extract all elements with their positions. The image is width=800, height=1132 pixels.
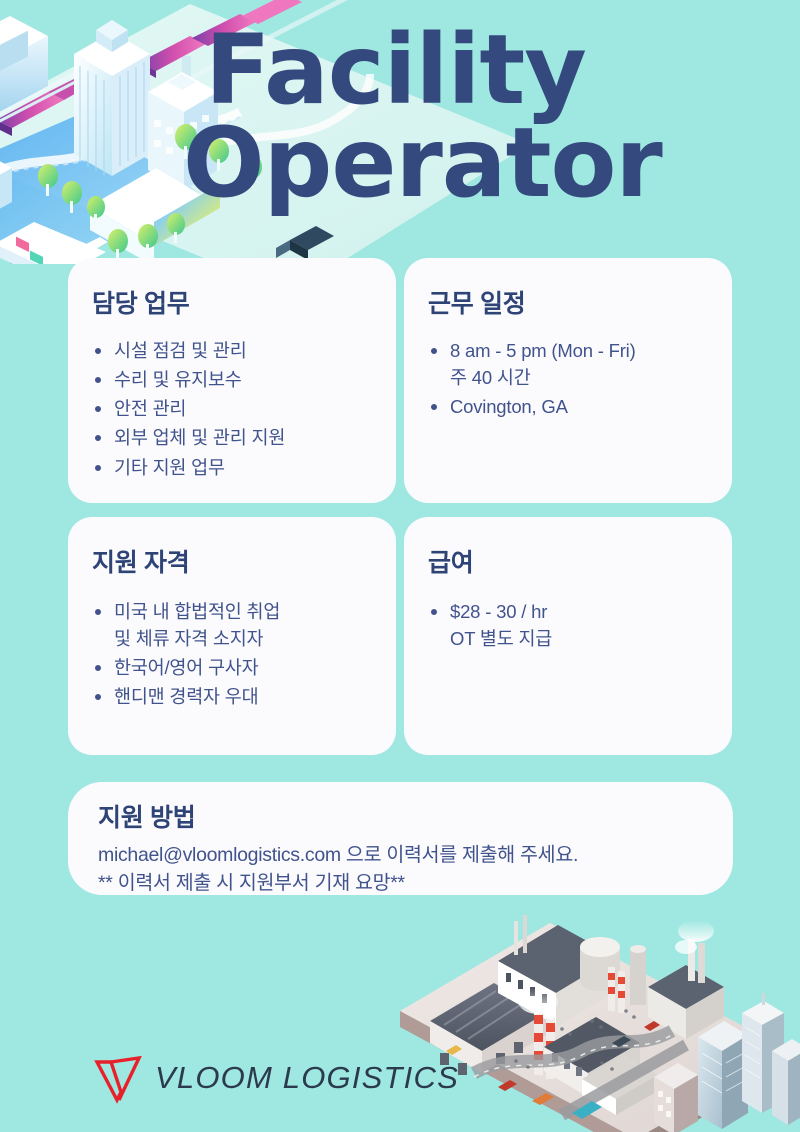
card-qualifications: 지원 자격 미국 내 합법적인 취업 및 체류 자격 소지자 한국어/영어 구사… — [68, 517, 396, 755]
list-item: 외부 업체 및 관리 지원 — [92, 425, 372, 452]
card-schedule-list: 8 am - 5 pm (Mon - Fri) 주 40 시간 Covingto… — [428, 338, 708, 420]
list-item-subtext: 및 체류 자격 소지자 — [114, 626, 372, 653]
company-logo: VLOOM LOGISTICS — [93, 1052, 459, 1104]
list-item: 8 am - 5 pm (Mon - Fri) 주 40 시간 — [428, 338, 708, 391]
vloom-v-mark-icon — [93, 1052, 145, 1104]
list-item-text: 외부 업체 및 관리 지원 — [114, 427, 285, 448]
list-item: 기타 지원 업무 — [92, 455, 372, 482]
list-item-subtext: 주 40 시간 — [450, 365, 708, 392]
list-item-text: Covington, GA — [450, 396, 568, 417]
title-line-2: Operator — [183, 117, 785, 210]
page-title: Facility Operator — [205, 24, 785, 210]
list-item-text: 시설 점검 및 관리 — [114, 340, 247, 361]
info-card-grid: 담당 업무 시설 점검 및 관리 수리 및 유지보수 안전 관리 외부 업체 및… — [68, 258, 733, 755]
list-item-text: 기타 지원 업무 — [114, 457, 225, 478]
list-item-text: $28 - 30 / hr — [450, 601, 547, 622]
apply-heading: 지원 방법 — [98, 798, 703, 834]
list-item: 안전 관리 — [92, 396, 372, 423]
list-item: Covington, GA — [428, 394, 708, 421]
list-item-text: 핸디맨 경력자 우대 — [114, 686, 258, 707]
list-item-text: 한국어/영어 구사자 — [114, 657, 258, 678]
list-item: 수리 및 유지보수 — [92, 367, 372, 394]
card-row-2: 지원 자격 미국 내 합법적인 취업 및 체류 자격 소지자 한국어/영어 구사… — [68, 517, 733, 755]
list-item-text: 안전 관리 — [114, 398, 186, 419]
card-duties: 담당 업무 시설 점검 및 관리 수리 및 유지보수 안전 관리 외부 업체 및… — [68, 258, 396, 503]
card-how-to-apply: 지원 방법 michael@vloomlogistics.com 으로 이력서를… — [68, 782, 733, 895]
list-item-text: 수리 및 유지보수 — [114, 369, 242, 390]
card-salary-list: $28 - 30 / hr OT 별도 지급 — [428, 599, 708, 652]
card-duties-list: 시설 점검 및 관리 수리 및 유지보수 안전 관리 외부 업체 및 관리 지원… — [92, 338, 372, 481]
list-item-subtext: OT 별도 지급 — [450, 626, 708, 653]
apply-line-2: ** 이력서 제출 시 지원부서 기재 요망** — [98, 870, 703, 898]
card-qualifications-list: 미국 내 합법적인 취업 및 체류 자격 소지자 한국어/영어 구사자 핸디맨 … — [92, 599, 372, 711]
list-item: 미국 내 합법적인 취업 및 체류 자격 소지자 — [92, 599, 372, 652]
logo-wordmark: VLOOM LOGISTICS — [155, 1060, 459, 1096]
list-item-text: 미국 내 합법적인 취업 — [114, 601, 280, 622]
list-item: 핸디맨 경력자 우대 — [92, 684, 372, 711]
apply-line-1: michael@vloomlogistics.com 으로 이력서를 제출해 주… — [98, 842, 703, 870]
card-schedule: 근무 일정 8 am - 5 pm (Mon - Fri) 주 40 시간 Co… — [404, 258, 732, 503]
card-row-1: 담당 업무 시설 점검 및 관리 수리 및 유지보수 안전 관리 외부 업체 및… — [68, 258, 733, 503]
list-item-text: 8 am - 5 pm (Mon - Fri) — [450, 340, 636, 361]
card-qualifications-heading: 지원 자격 — [92, 543, 372, 579]
list-item: 한국어/영어 구사자 — [92, 655, 372, 682]
card-salary-heading: 급여 — [428, 543, 708, 579]
job-poster: Facility Operator 담당 업무 시설 점검 및 관리 수리 및 … — [0, 0, 800, 1132]
card-duties-heading: 담당 업무 — [92, 284, 372, 320]
list-item: $28 - 30 / hr OT 별도 지급 — [428, 599, 708, 652]
list-item: 시설 점검 및 관리 — [92, 338, 372, 365]
card-schedule-heading: 근무 일정 — [428, 284, 708, 320]
card-salary: 급여 $28 - 30 / hr OT 별도 지급 — [404, 517, 732, 755]
